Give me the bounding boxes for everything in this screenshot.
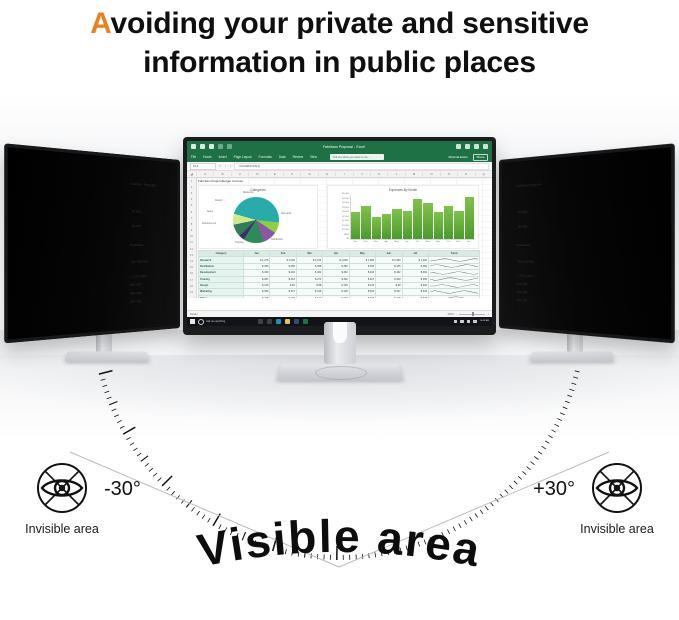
protractor-tick [552, 430, 556, 432]
protractor-tick [103, 385, 108, 387]
quick-access-toolbar[interactable] [191, 144, 232, 149]
close-icon[interactable] [483, 144, 488, 149]
ytick-0: $5,000 [342, 193, 349, 195]
cortana-icon[interactable] [258, 319, 263, 324]
table-row[interactable]: Other$ 245$ 290$ 102$ 449$ 453$ 428$ 435 [199, 295, 480, 298]
col-M[interactable]: M [405, 172, 422, 176]
cell-value[interactable]: $ 428 [376, 295, 402, 298]
name-box[interactable]: D14 [190, 163, 216, 170]
cell-value[interactable]: $ 102 [296, 295, 322, 298]
col-A[interactable]: A [196, 172, 213, 176]
protractor-tick [575, 371, 580, 372]
bar-oct [444, 206, 453, 239]
col-H[interactable]: H [318, 172, 335, 176]
tab-data[interactable]: Data [279, 155, 286, 159]
protractor-tick [545, 441, 549, 444]
protractor-tick [107, 397, 112, 399]
monitor-left: Fabrikam Proposal $4,500 $3,000 Expenses… [4, 143, 180, 351]
angle-label-minus-30: -30° [104, 478, 141, 501]
pie-label-design: Design [215, 199, 222, 202]
table-body: Research$ 1,275$ 1,000$ 1,153$ 1,028$ 1,… [199, 257, 480, 298]
ytick-1: $4,500 [342, 198, 349, 200]
xtick-mar: Mar [371, 241, 381, 247]
headline-line-2: information in public places [0, 43, 679, 82]
bar-mar [372, 217, 381, 239]
col-Q[interactable]: Q [475, 172, 492, 176]
protractor-tick [531, 462, 535, 465]
network-icon[interactable] [460, 320, 464, 324]
eye-crossed-icon [36, 462, 88, 514]
bar-jun [403, 211, 412, 239]
accept-formula-icon[interactable]: ✓ [224, 164, 226, 168]
center-stand-neck-cutout [333, 322, 347, 343]
svg-text:Visible area: Visible area [193, 518, 486, 577]
row-19[interactable]: 19 [187, 289, 196, 295]
user-name: Miranda Eaton [448, 155, 468, 159]
bar-chart-x-axis: JanFebMarAprMayJunJulAugSepOctNovDec [350, 241, 474, 247]
protractor-tick [126, 437, 130, 440]
pie-label-marketing: Marketing [243, 191, 254, 194]
monitor-right-bezel: Fabrikam Proposal $4,500 $3,000 Expenses… [499, 143, 675, 343]
cell-value[interactable]: $ 245 [244, 295, 270, 298]
protractor-tick [114, 415, 119, 417]
search-placeholder: Ask me anything [206, 320, 225, 323]
ribbon-display-options-icon[interactable] [456, 144, 461, 149]
worksheet-grid[interactable]: 1 2 3 4 5 6 7 8 9 10 11 [187, 178, 492, 298]
save-icon[interactable] [200, 144, 205, 149]
tab-review[interactable]: Review [293, 155, 303, 159]
ytick-7: $1,500 [342, 225, 349, 227]
autosave-icon[interactable] [191, 144, 196, 149]
protractor-tick [567, 395, 572, 397]
protractor-tick [112, 409, 117, 411]
protractor-tick [197, 511, 200, 515]
col-F[interactable]: F [283, 172, 300, 176]
show-hidden-icons-icon[interactable] [454, 320, 458, 324]
col-B[interactable]: B [213, 172, 230, 176]
pie-chart-title: Categories [199, 188, 317, 192]
excel-title-bar: Fabrikam Proposal - Excel [187, 141, 492, 152]
protractor-tick [137, 453, 141, 456]
select-all-corner[interactable]: ◢ [187, 172, 196, 176]
protractor-tick [563, 407, 568, 409]
ytick-6: $2,000 [342, 220, 349, 222]
xtick-aug: Aug [422, 241, 432, 247]
zoom-slider[interactable] [459, 314, 485, 315]
col-N[interactable]: N [422, 172, 439, 176]
xtick-jan: Jan [350, 241, 360, 247]
sparkline [430, 290, 478, 294]
taskbar-clock[interactable]: 10:09 AM [480, 320, 489, 323]
budget-data-table[interactable]: Category Jan Feb Mar Apr May Jun Jul Tre [198, 250, 480, 298]
monitor-center-bezel: Fabrikam Proposal - Excel File Hom [183, 137, 496, 335]
tab-insert[interactable]: Insert [219, 155, 227, 159]
excel-status-bar: Ready 100% − + [187, 310, 492, 317]
column-header-row[interactable]: ◢ A B C D E F G H I J K L [187, 171, 492, 178]
bar-sep [434, 212, 443, 239]
zoom-in-icon[interactable]: + [487, 313, 489, 316]
zoom-control[interactable]: 100% − + [447, 313, 489, 316]
start-icon[interactable] [190, 319, 195, 324]
insert-function-icon[interactable]: ƒ [230, 164, 232, 168]
formula-bar-row: D14 ✕ ✓ ƒ =SUM(B14:M14) [187, 162, 492, 171]
tab-file[interactable]: File [191, 155, 196, 159]
chart-categories-pie[interactable]: Categories Marketing Design Setup Develo… [198, 185, 318, 249]
protractor-tick [542, 446, 546, 449]
tab-home[interactable]: Home [203, 155, 212, 159]
col-G[interactable]: G [300, 172, 317, 176]
status-ready-label: Ready [190, 313, 198, 316]
protractor-tick [538, 451, 542, 454]
pie-label-research: Research [281, 212, 291, 215]
xtick-sep: Sep [433, 241, 443, 247]
sparkline [430, 258, 478, 262]
sparkline [430, 271, 478, 275]
protractor-tick [560, 413, 565, 415]
xtick-dec: Dec [464, 241, 474, 247]
protractor-tick [158, 478, 162, 481]
xtick-jun: Jun [402, 241, 412, 247]
bar-may [392, 209, 401, 239]
protractor-tick [485, 506, 488, 510]
excel-window: Fabrikam Proposal - Excel File Hom [187, 141, 492, 326]
protractor-tick [172, 491, 175, 495]
col-C[interactable]: C [231, 172, 248, 176]
protractor-tick [534, 457, 538, 460]
cell-value[interactable]: $ 290 [270, 295, 296, 298]
protractor-tick [514, 481, 518, 485]
protractor-tick [105, 391, 110, 393]
monitor-right-screen: Fabrikam Proposal $4,500 $3,000 Expenses… [501, 147, 671, 339]
col-I[interactable]: I [335, 172, 352, 176]
protractor-tick [548, 435, 552, 438]
headline-line-1-rest: voiding your private and sensitive [111, 7, 589, 40]
action-center-icon[interactable] [473, 320, 477, 324]
monitor-left-bezel: Fabrikam Proposal $4,500 $3,000 Expenses… [4, 143, 180, 343]
monitor-center-screen: Fabrikam Proposal - Excel File Hom [187, 141, 492, 326]
xtick-jul: Jul [412, 241, 422, 247]
visible-area-banner: Visible area [0, 518, 679, 618]
sparkline [430, 284, 478, 288]
protractor-tick [145, 463, 149, 466]
cell-trend[interactable] [429, 295, 480, 298]
protractor-tick [167, 487, 171, 491]
cancel-formula-icon[interactable]: ✕ [219, 164, 221, 168]
zoom-slider-knob[interactable] [472, 312, 474, 316]
protractor-tick [192, 507, 195, 511]
excel-document-title: Fabrikam Proposal - Excel [232, 145, 456, 149]
protractor-tick [557, 419, 562, 421]
bar-chart-y-axis: $5,000 $4,500 $4,000 $3,500 $3,000 $2,50… [329, 193, 349, 240]
sparkline [430, 296, 478, 298]
col-E[interactable]: E [266, 172, 283, 176]
eye-crossed-icon [591, 462, 643, 514]
col-K[interactable]: K [370, 172, 387, 176]
bar-nov [454, 211, 463, 239]
xtick-feb: Feb [360, 241, 370, 247]
headline-initial: A [90, 7, 110, 40]
protractor-tick [505, 490, 508, 494]
protractor-tick [133, 448, 137, 451]
monitor-center: Fabrikam Proposal - Excel File Hom [183, 137, 496, 342]
protractor-tick [509, 485, 513, 489]
restore-icon[interactable] [474, 144, 479, 149]
headline-line-1: Avoiding your private and sensitive [0, 4, 679, 43]
row-header-column[interactable]: 1 2 3 4 5 6 7 8 9 10 11 [187, 178, 197, 298]
cell-value[interactable]: $ 435 [402, 295, 428, 298]
xtick-oct: Oct [443, 241, 453, 247]
cell-value[interactable]: $ 453 [349, 295, 375, 298]
ytick-10: $0 [347, 238, 349, 240]
tell-me-search[interactable]: Tell me what you want to do... [330, 154, 384, 160]
protractor-tick [480, 510, 483, 514]
pie-label-setup: Setup [207, 210, 213, 213]
xtick-apr: Apr [381, 241, 391, 247]
protractor-tick [130, 443, 134, 446]
protractor-tick [569, 389, 574, 391]
ytick-9: $500 [344, 234, 349, 236]
col-L[interactable]: L [387, 172, 404, 176]
protractor-tick [555, 424, 560, 426]
col-D[interactable]: D [248, 172, 265, 176]
monitor-left-screen: Fabrikam Proposal $4,500 $3,000 Expenses… [8, 147, 178, 339]
bar-apr [382, 214, 391, 239]
protractor-tick [117, 420, 121, 422]
protractor-tick [101, 379, 106, 380]
undo-icon[interactable] [209, 144, 214, 149]
redo-icon[interactable] [218, 144, 223, 149]
tab-formulas[interactable]: Formulas [259, 155, 272, 159]
bar-chart-title: Expenses By Month [328, 188, 478, 192]
monitor-right: Fabrikam Proposal $4,500 $3,000 Expenses… [499, 143, 675, 351]
protractor-tick [522, 471, 526, 474]
bar-chart-plot-area [350, 195, 474, 240]
protractor-tick [153, 473, 157, 476]
sparkline [430, 264, 478, 268]
protractor-tick [141, 456, 148, 462]
protractor-tick [565, 401, 570, 403]
protractor-tick [518, 476, 522, 479]
page-title: Avoiding your private and sensitive info… [0, 0, 679, 82]
col-P[interactable]: P [457, 172, 474, 176]
protractor-tick [162, 476, 172, 486]
volume-icon[interactable] [467, 320, 471, 324]
cell-value[interactable]: $ 449 [323, 295, 349, 298]
bar-feb [361, 206, 370, 239]
tab-page-layout[interactable]: Page Layout [234, 155, 252, 159]
xtick-may: May [391, 241, 401, 247]
formula-bar-icons[interactable]: ✕ ✓ ƒ [219, 164, 231, 168]
window-controls[interactable] [456, 144, 488, 149]
zoom-out-icon[interactable]: − [456, 313, 458, 316]
bar-jul [413, 199, 422, 239]
excel-ribbon-tabs[interactable]: File Home Insert Page Layout Formulas Da… [187, 152, 492, 162]
ytick-3: $3,500 [342, 207, 349, 209]
sparkline [430, 277, 478, 281]
protractor-tick [123, 427, 135, 434]
col-O[interactable]: O [440, 172, 457, 176]
cortana-circle-icon[interactable] [198, 319, 204, 325]
ytick-5: $2,500 [342, 216, 349, 218]
protractor-tick [99, 371, 113, 375]
protractor-tick [120, 426, 124, 428]
visible-area-label: Visible area [193, 518, 486, 577]
protractor-tick [475, 514, 478, 518]
minimize-icon[interactable] [465, 144, 470, 149]
pie-chart-graphic [233, 197, 279, 243]
chart-expenses-bar[interactable]: Expenses By Month $5,000 $4,500 $4,000 $… [327, 185, 479, 249]
scene: Avoiding your private and sensitive info… [0, 0, 679, 620]
ytick-8: $1,000 [342, 229, 349, 231]
zoom-level-label: 100% [447, 313, 454, 316]
cell-category[interactable]: Other [199, 295, 244, 298]
system-tray[interactable]: 10:09 AM [454, 320, 489, 324]
ytick-4: $3,000 [342, 211, 349, 213]
pie-label-distribution: Distribution [271, 238, 283, 241]
formula-input[interactable]: =SUM(B14:M14) [234, 163, 489, 170]
pie-label-training: Training [235, 241, 244, 244]
protractor-tick [573, 377, 578, 378]
taskbar-search[interactable]: Ask me anything [198, 319, 225, 325]
bar-jan [351, 212, 360, 239]
bar-dec [465, 197, 474, 239]
angle-label-plus-30: +30° [533, 478, 575, 501]
pie-label-development: Development [202, 222, 216, 225]
protractor-tick [109, 402, 117, 405]
protractor-tick [571, 383, 576, 385]
bar-aug [423, 203, 432, 239]
protractor-tick [527, 467, 531, 470]
ribbon-right-group: Miranda Eaton Share [448, 154, 488, 161]
share-button[interactable]: Share [473, 154, 488, 161]
cell-a1-text[interactable]: Fabrikam Project Budget Contoso [198, 179, 243, 183]
ytick-2: $4,000 [342, 202, 349, 204]
protractor-tick [149, 468, 153, 471]
xtick-nov: Nov [453, 241, 463, 247]
tab-view[interactable]: View [310, 155, 317, 159]
col-J[interactable]: J [353, 172, 370, 176]
